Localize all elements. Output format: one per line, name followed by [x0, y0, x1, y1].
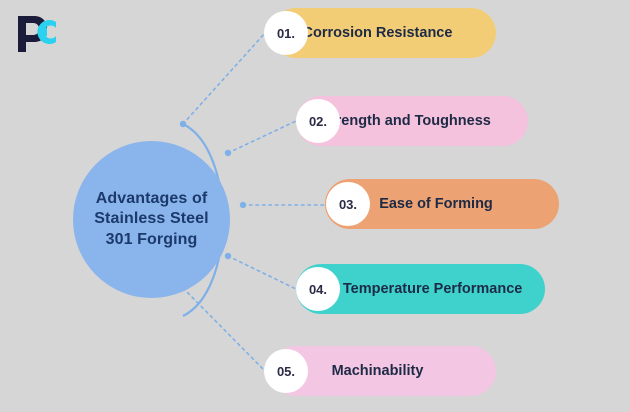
item-number-bubble-5: 05. — [264, 349, 308, 393]
infographic-canvas: Advantages of Stainless Steel 301 Forgin… — [0, 0, 630, 412]
company-logo-icon — [14, 12, 60, 56]
item-number-bubble-4: 04. — [296, 267, 340, 311]
item-number-bubble-1: 01. — [264, 11, 308, 55]
item-number-bubble-2: 02. — [296, 99, 340, 143]
hub-circle: Advantages of Stainless Steel 301 Forgin… — [73, 141, 230, 298]
hub-label: Advantages of Stainless Steel 301 Forgin… — [73, 189, 230, 250]
item-number-bubble-3: 03. — [326, 182, 370, 226]
